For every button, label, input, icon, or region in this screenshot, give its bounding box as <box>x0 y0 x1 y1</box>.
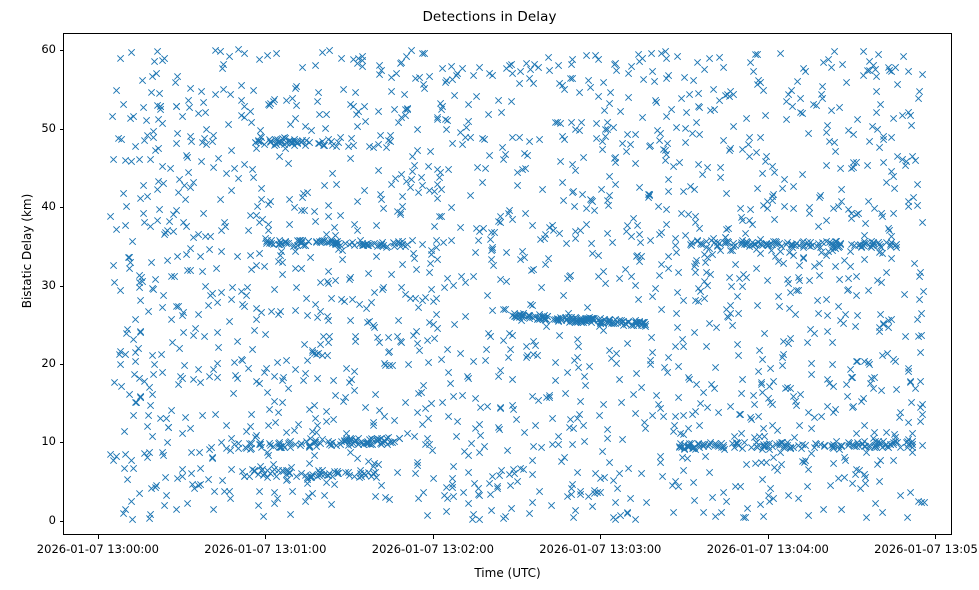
detection-marker <box>136 296 145 305</box>
detection-marker <box>299 241 308 250</box>
detection-marker <box>438 64 447 73</box>
detection-marker <box>155 89 164 98</box>
detection-marker <box>507 504 516 513</box>
detection-marker <box>883 268 892 277</box>
y-tick-mark <box>60 50 64 51</box>
detection-marker <box>347 440 356 449</box>
detection-marker <box>573 353 582 362</box>
detection-marker <box>123 475 132 484</box>
detection-marker <box>358 438 367 447</box>
detection-marker <box>688 410 697 419</box>
detection-marker <box>441 115 450 124</box>
detection-marker <box>594 272 603 281</box>
detection-marker <box>573 468 582 477</box>
detection-marker <box>419 381 428 390</box>
detection-marker <box>767 484 776 493</box>
detection-marker <box>752 438 761 447</box>
detection-marker <box>682 138 691 147</box>
detection-marker <box>583 317 592 326</box>
detection-marker <box>340 297 349 306</box>
detection-marker <box>249 86 258 95</box>
detection-marker <box>870 443 879 452</box>
detection-marker <box>340 436 349 445</box>
detection-marker <box>323 238 332 247</box>
detection-marker <box>345 435 354 444</box>
y-tick-label: 30 <box>41 278 56 292</box>
detection-marker <box>248 118 257 127</box>
detection-marker <box>547 501 556 510</box>
detection-marker <box>342 436 351 445</box>
detection-marker <box>363 437 372 446</box>
detection-marker <box>449 474 458 483</box>
detection-marker <box>787 242 796 251</box>
detection-marker <box>863 161 872 170</box>
detection-marker <box>815 259 824 268</box>
detection-marker <box>616 375 625 384</box>
detection-marker <box>664 264 673 273</box>
detection-marker <box>665 252 674 261</box>
detection-marker <box>690 443 699 452</box>
detection-marker <box>779 259 788 268</box>
detection-marker <box>851 470 860 479</box>
detection-marker <box>256 438 265 447</box>
detection-marker <box>281 140 290 149</box>
detection-marker <box>831 243 840 252</box>
detection-marker <box>129 464 138 473</box>
detection-marker <box>776 302 785 311</box>
detection-marker <box>233 252 242 261</box>
detection-marker <box>408 236 417 245</box>
detection-marker <box>876 100 885 109</box>
detection-marker <box>580 316 589 325</box>
detection-marker <box>351 337 360 346</box>
detection-marker <box>283 467 292 476</box>
detection-marker <box>303 479 312 488</box>
detection-marker <box>150 57 159 66</box>
detection-marker <box>572 314 581 323</box>
detection-marker <box>153 185 162 194</box>
detection-marker <box>237 355 246 364</box>
detection-marker <box>301 497 310 506</box>
detection-marker <box>555 229 564 238</box>
detection-marker <box>435 173 444 182</box>
detection-marker <box>543 312 552 321</box>
detection-marker <box>220 218 229 227</box>
detection-marker <box>194 365 203 374</box>
detection-marker <box>843 380 852 389</box>
detection-marker <box>495 425 504 434</box>
detection-marker <box>569 513 578 522</box>
detection-marker <box>726 309 735 318</box>
detection-marker <box>333 142 342 151</box>
detection-marker <box>310 401 319 410</box>
detection-marker <box>204 301 213 310</box>
detection-marker <box>420 49 429 58</box>
detection-marker <box>433 115 442 124</box>
detection-marker <box>354 434 363 443</box>
detection-marker <box>569 440 578 449</box>
detection-marker <box>418 420 427 429</box>
detection-marker <box>285 220 294 229</box>
detection-marker <box>520 428 529 437</box>
detection-marker <box>824 247 833 256</box>
detection-marker <box>125 253 134 262</box>
detection-marker <box>890 456 899 465</box>
detection-marker <box>878 443 887 452</box>
detection-marker <box>610 319 619 328</box>
detection-marker <box>849 373 858 382</box>
detection-marker <box>208 137 217 146</box>
detection-marker <box>501 512 510 521</box>
detection-marker <box>744 504 753 513</box>
detection-marker <box>611 515 620 524</box>
detection-marker <box>559 291 568 300</box>
detection-marker <box>913 201 922 210</box>
detection-marker <box>787 86 796 95</box>
detection-marker <box>613 318 622 327</box>
detection-marker <box>413 327 422 336</box>
detection-marker <box>733 292 742 301</box>
detection-marker <box>395 434 404 443</box>
detection-marker <box>167 272 176 281</box>
detection-marker <box>494 372 503 381</box>
detection-marker <box>377 240 386 249</box>
detection-marker <box>178 465 187 474</box>
detection-marker <box>227 146 236 155</box>
detection-marker <box>864 286 873 295</box>
detection-marker <box>815 193 824 202</box>
detection-marker <box>108 112 117 121</box>
detection-marker <box>369 421 378 430</box>
detection-marker <box>676 439 685 448</box>
detection-marker <box>354 440 363 449</box>
detection-marker <box>697 239 706 248</box>
detection-marker <box>882 238 891 247</box>
detection-marker <box>469 272 478 281</box>
detection-marker <box>274 408 283 417</box>
detection-marker <box>365 317 374 326</box>
detection-marker <box>743 238 752 247</box>
detection-marker <box>891 63 900 72</box>
detection-marker <box>590 486 599 495</box>
detection-marker <box>837 185 846 194</box>
detection-marker <box>760 329 769 338</box>
detection-marker <box>356 438 365 447</box>
detection-marker <box>568 188 577 197</box>
detection-marker <box>313 374 322 383</box>
detection-marker <box>782 115 791 124</box>
detection-marker <box>806 242 815 251</box>
detection-marker <box>345 378 354 387</box>
detection-marker <box>369 462 378 471</box>
detection-marker <box>810 413 819 422</box>
detection-marker <box>118 382 127 391</box>
detection-marker <box>242 427 251 436</box>
detection-marker <box>790 204 799 213</box>
detection-marker <box>866 379 875 388</box>
detection-marker <box>908 443 917 452</box>
detection-marker <box>355 473 364 482</box>
detection-marker <box>583 315 592 324</box>
detection-marker <box>877 278 886 287</box>
detection-marker <box>116 54 125 63</box>
detection-marker <box>137 393 146 402</box>
detection-marker <box>475 515 484 524</box>
detection-marker <box>644 193 653 202</box>
detection-marker <box>155 115 164 124</box>
detection-marker <box>641 318 650 327</box>
detection-marker <box>543 312 552 321</box>
detection-marker <box>135 374 144 383</box>
detection-marker <box>334 138 343 147</box>
detection-marker <box>583 220 592 229</box>
detection-marker <box>712 323 721 332</box>
detection-marker <box>339 397 348 406</box>
detection-marker <box>827 441 836 450</box>
detection-marker <box>279 373 288 382</box>
detection-marker <box>424 511 433 520</box>
detection-marker <box>199 209 208 218</box>
detection-marker <box>904 197 913 206</box>
detection-marker <box>305 442 314 451</box>
detection-marker <box>866 242 875 251</box>
detection-marker <box>444 165 453 174</box>
detection-marker <box>795 421 804 430</box>
detection-marker <box>240 472 249 481</box>
detection-marker <box>676 443 685 452</box>
detection-marker <box>179 328 188 337</box>
detection-marker <box>904 67 913 76</box>
detection-marker <box>148 284 157 293</box>
detection-marker <box>738 444 747 453</box>
detection-marker <box>259 471 268 480</box>
detection-marker <box>757 378 766 387</box>
detection-marker <box>167 315 176 324</box>
detection-marker <box>657 260 666 269</box>
detection-marker <box>516 310 525 319</box>
detection-marker <box>890 114 899 123</box>
detection-marker <box>629 214 638 223</box>
detection-marker <box>263 388 272 397</box>
detection-marker <box>904 435 913 444</box>
detection-marker <box>638 54 647 63</box>
detection-marker <box>129 411 138 420</box>
detection-marker <box>179 472 188 481</box>
detection-marker <box>479 224 488 233</box>
detection-marker <box>623 508 632 517</box>
detection-marker <box>524 311 533 320</box>
detection-marker <box>441 78 450 87</box>
detection-marker <box>262 237 271 246</box>
detection-marker <box>265 226 274 235</box>
detection-marker <box>858 243 867 252</box>
detection-marker <box>679 296 688 305</box>
detection-marker <box>750 240 759 249</box>
detection-marker <box>164 256 173 265</box>
detection-marker <box>769 237 778 246</box>
detection-marker <box>275 443 284 452</box>
detection-marker <box>197 87 206 96</box>
detection-marker <box>237 111 246 120</box>
detection-marker <box>613 484 622 493</box>
detection-marker <box>836 316 845 325</box>
detection-marker <box>702 237 711 246</box>
detection-marker <box>266 138 275 147</box>
detection-marker <box>299 189 308 198</box>
detection-marker <box>577 316 586 325</box>
detection-marker <box>797 444 806 453</box>
detection-marker <box>579 317 588 326</box>
detection-marker <box>164 423 173 432</box>
detection-marker <box>275 438 284 447</box>
detection-marker <box>178 112 187 121</box>
detection-marker <box>742 114 751 123</box>
detection-marker <box>320 141 329 150</box>
detection-marker <box>525 509 534 518</box>
detection-marker <box>700 250 709 259</box>
detection-marker <box>128 48 137 57</box>
detection-marker <box>413 125 422 134</box>
detection-marker <box>162 414 171 423</box>
detection-marker <box>364 439 373 448</box>
detection-marker <box>397 283 406 292</box>
detection-marker <box>758 355 767 364</box>
detection-marker <box>257 466 266 475</box>
detection-marker <box>408 167 417 176</box>
detection-marker <box>333 237 342 246</box>
detection-marker <box>888 238 897 247</box>
detection-marker <box>909 437 918 446</box>
detection-marker <box>514 311 523 320</box>
detection-marker <box>737 240 746 249</box>
detection-marker <box>796 108 805 117</box>
detection-marker <box>684 210 693 219</box>
detection-marker <box>475 227 484 236</box>
detection-marker <box>889 440 898 449</box>
detection-marker <box>907 121 916 130</box>
detection-marker <box>719 443 728 452</box>
detection-marker <box>505 61 514 70</box>
detection-marker <box>754 76 763 85</box>
detection-marker <box>521 164 530 173</box>
detection-marker <box>834 302 843 311</box>
detection-marker <box>260 140 269 149</box>
detection-marker <box>590 206 599 215</box>
detection-marker <box>196 252 205 261</box>
detection-marker <box>652 98 661 107</box>
detection-marker <box>525 314 534 323</box>
detection-marker <box>145 514 154 523</box>
detection-marker <box>186 132 195 141</box>
detection-marker <box>708 250 717 259</box>
detection-marker <box>507 60 516 69</box>
detection-marker <box>342 468 351 477</box>
x-axis-label: Time (UTC) <box>63 566 952 580</box>
detection-marker <box>276 238 285 247</box>
detection-marker <box>584 492 593 501</box>
detection-marker <box>576 314 585 323</box>
detection-marker <box>265 135 274 144</box>
detection-marker <box>645 190 654 199</box>
detection-marker <box>380 412 389 421</box>
detection-marker <box>139 209 148 218</box>
detection-marker <box>702 342 711 351</box>
detection-marker <box>708 236 717 245</box>
detection-marker <box>872 440 881 449</box>
detection-marker <box>190 484 199 493</box>
detection-marker <box>651 284 660 293</box>
detection-marker <box>443 345 452 354</box>
detection-marker <box>796 94 805 103</box>
detection-marker <box>769 196 778 205</box>
detection-marker <box>771 237 780 246</box>
detection-marker <box>851 322 860 331</box>
detection-marker <box>719 488 728 497</box>
detection-marker <box>713 241 722 250</box>
detection-marker <box>892 385 901 394</box>
detection-marker <box>659 145 668 154</box>
detection-marker <box>278 134 287 143</box>
detection-marker <box>868 374 877 383</box>
detection-marker <box>295 237 304 246</box>
detection-marker <box>398 237 407 246</box>
detection-marker <box>398 240 407 249</box>
detection-marker <box>574 363 583 372</box>
detection-marker <box>710 238 719 247</box>
detection-marker <box>305 459 314 468</box>
detection-marker <box>164 438 173 447</box>
detection-marker <box>915 332 924 341</box>
detection-marker <box>585 362 594 371</box>
detection-marker <box>595 55 604 64</box>
detection-marker <box>573 335 582 344</box>
detection-marker <box>481 356 490 365</box>
detection-marker <box>174 188 183 197</box>
detection-marker <box>262 364 271 373</box>
detection-marker <box>726 402 735 411</box>
detection-marker <box>865 57 874 66</box>
detection-marker <box>352 436 361 445</box>
detection-marker <box>744 140 753 149</box>
detection-marker <box>372 473 381 482</box>
detection-marker <box>443 494 452 503</box>
detection-marker <box>913 180 922 189</box>
detection-marker <box>810 443 819 452</box>
detection-marker <box>807 238 816 247</box>
detection-marker <box>164 226 173 235</box>
detection-marker <box>529 79 538 88</box>
detection-marker <box>794 77 803 86</box>
detection-marker <box>263 236 272 245</box>
detection-marker <box>302 294 311 303</box>
detection-marker <box>862 448 871 457</box>
detection-marker <box>414 188 423 197</box>
detection-marker <box>730 443 739 452</box>
detection-marker <box>679 430 688 439</box>
detection-marker <box>535 310 544 319</box>
detection-marker <box>271 139 280 148</box>
detection-marker <box>282 356 291 365</box>
detection-marker <box>341 239 350 248</box>
detection-marker <box>506 329 515 338</box>
detection-marker <box>560 453 569 462</box>
detection-marker <box>173 129 182 138</box>
detection-marker <box>209 453 218 462</box>
detection-marker <box>319 332 328 341</box>
detection-marker <box>735 274 744 283</box>
detection-marker <box>425 268 434 277</box>
detection-marker <box>723 312 732 321</box>
